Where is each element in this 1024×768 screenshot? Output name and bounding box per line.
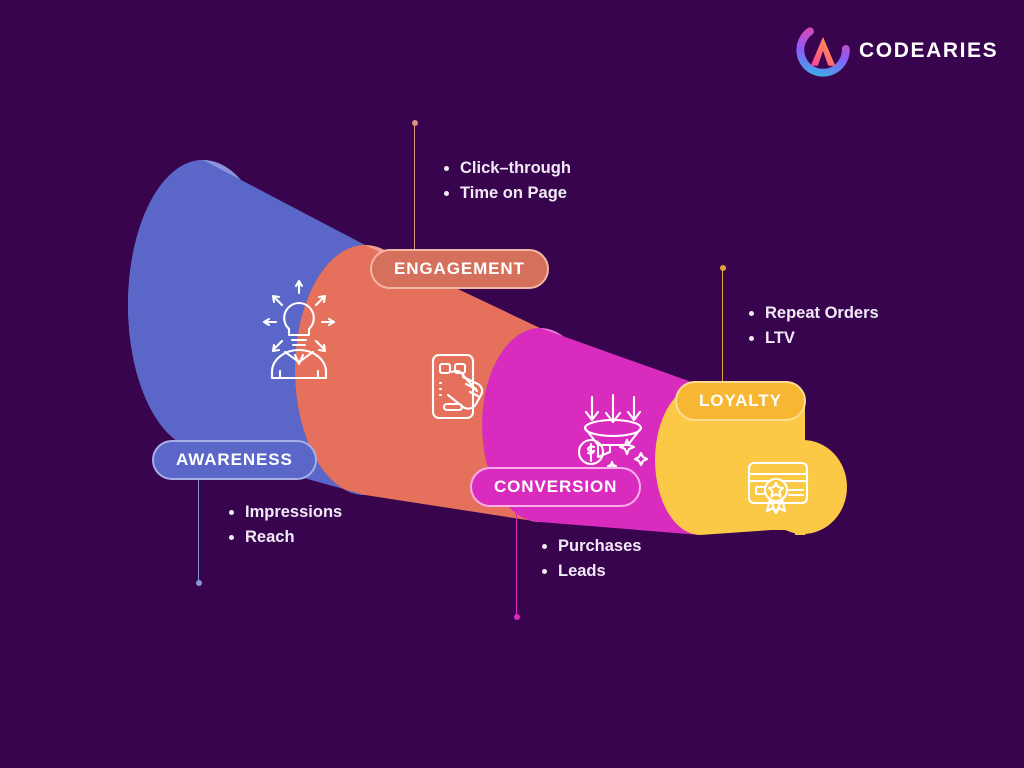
funnel-diagram bbox=[0, 0, 1024, 768]
connector-engagement bbox=[414, 123, 415, 251]
brand-logo: CODEARIES bbox=[795, 22, 998, 78]
connector-dot-awareness bbox=[196, 580, 202, 586]
stage-pill-conversion[interactable]: CONVERSION bbox=[470, 467, 641, 507]
metrics-list-loyalty: Repeat Orders LTV bbox=[745, 301, 879, 351]
brand-name: CODEARIES bbox=[859, 40, 998, 61]
infographic-canvas: CODEARIES AWARENESS ENGAGEMENT CONVERSIO… bbox=[0, 0, 1024, 768]
connector-loyalty bbox=[722, 268, 723, 383]
metrics-list-awareness: Impressions Reach bbox=[225, 500, 342, 550]
metrics-list-engagement: Click–through Time on Page bbox=[440, 156, 571, 206]
metric-item: LTV bbox=[765, 326, 879, 351]
stage-pill-engagement[interactable]: ENGAGEMENT bbox=[370, 249, 549, 289]
metric-item: Impressions bbox=[245, 500, 342, 525]
connector-dot-conversion bbox=[514, 614, 520, 620]
connector-conversion bbox=[516, 507, 517, 617]
codearies-circle-a-logo-icon bbox=[795, 22, 851, 78]
stage-pill-loyalty[interactable]: LOYALTY bbox=[675, 381, 806, 421]
metric-item: Leads bbox=[558, 559, 641, 584]
metric-item: Time on Page bbox=[460, 181, 571, 206]
connector-dot-loyalty bbox=[720, 265, 726, 271]
metric-item: Click–through bbox=[460, 156, 571, 181]
metric-item: Purchases bbox=[558, 534, 641, 559]
metric-item: Repeat Orders bbox=[765, 301, 879, 326]
stage-pill-awareness[interactable]: AWARENESS bbox=[152, 440, 317, 480]
connector-dot-engagement bbox=[412, 120, 418, 126]
metrics-list-conversion: Purchases Leads bbox=[538, 534, 641, 584]
connector-awareness bbox=[198, 480, 199, 583]
metric-item: Reach bbox=[245, 525, 342, 550]
